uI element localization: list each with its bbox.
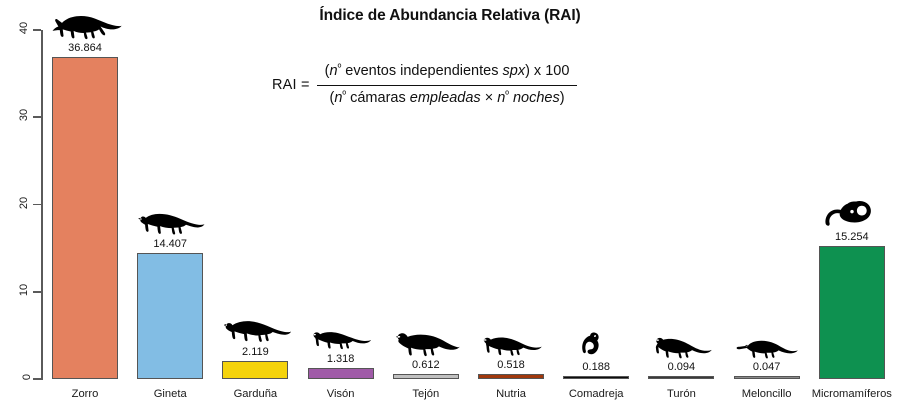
x-axis-category-label: Meloncillo xyxy=(721,388,813,400)
y-axis-line xyxy=(41,30,43,380)
beech-marten-icon xyxy=(219,315,291,345)
bar[interactable] xyxy=(734,376,800,379)
bar-value-label: 0.518 xyxy=(475,359,547,371)
y-axis-tick xyxy=(33,291,41,293)
x-axis-category-label: Turón xyxy=(635,388,727,400)
bar-value-label: 1.318 xyxy=(305,353,377,365)
badger-icon xyxy=(390,328,462,358)
bar-value-label: 14.407 xyxy=(134,238,206,250)
plot-area: 010203040 36.864Zorro14.407Gineta2.119Ga… xyxy=(0,0,900,410)
bar[interactable] xyxy=(478,374,544,379)
bar-group: 0.612Tejón xyxy=(390,0,462,410)
chart-canvas: Índice de Abundancia Relativa (RAI) RAI … xyxy=(0,0,900,410)
y-axis-tick-label: 40 xyxy=(0,22,30,34)
bar[interactable] xyxy=(393,374,459,379)
otter-icon xyxy=(475,331,547,358)
bar-group: 0.188Comadreja xyxy=(560,0,632,410)
bar-value-label: 2.119 xyxy=(219,346,291,358)
x-axis-category-label: Comadreja xyxy=(550,388,642,400)
bar-group: 0.047Meloncillo xyxy=(731,0,803,410)
bar[interactable] xyxy=(819,246,885,379)
x-axis-category-label: Visón xyxy=(295,388,387,400)
x-axis-category-label: Micromamíferos xyxy=(806,388,898,400)
bar[interactable] xyxy=(308,368,374,379)
weasel-icon xyxy=(560,327,632,360)
x-axis-category-label: Garduña xyxy=(209,388,301,400)
bar-value-label: 0.188 xyxy=(560,361,632,373)
polecat-icon xyxy=(645,333,717,360)
y-axis-tick xyxy=(33,29,41,31)
bar-group: 14.407Gineta xyxy=(134,0,206,410)
bar[interactable] xyxy=(137,253,203,379)
mink-icon xyxy=(305,325,377,352)
y-axis-tick xyxy=(33,378,41,380)
bar[interactable] xyxy=(648,376,714,379)
bar[interactable] xyxy=(222,361,288,379)
y-axis-tick xyxy=(33,116,41,118)
bar-value-label: 0.094 xyxy=(645,361,717,373)
bar-group: 1.318Visón xyxy=(305,0,377,410)
y-axis-tick-label: 10 xyxy=(0,284,30,296)
genet-icon xyxy=(134,207,206,237)
y-axis-tick-label: 20 xyxy=(0,197,30,209)
x-axis-category-label: Nutria xyxy=(465,388,557,400)
bar-group: 36.864Zorro xyxy=(49,0,121,410)
bar-group: 0.518Nutria xyxy=(475,0,547,410)
y-axis-tick-label: 0 xyxy=(0,371,30,383)
bar-value-label: 0.047 xyxy=(731,361,803,373)
bar-value-label: 15.254 xyxy=(816,231,888,243)
bar-value-label: 36.864 xyxy=(49,42,121,54)
y-axis-tick-label: 30 xyxy=(0,109,30,121)
mouse-icon xyxy=(816,194,888,230)
x-axis-category-label: Gineta xyxy=(124,388,216,400)
bar-group: 15.254Micromamíferos xyxy=(816,0,888,410)
y-axis-tick xyxy=(33,204,41,206)
bar-group: 2.119Garduña xyxy=(219,0,291,410)
mongoose-icon xyxy=(731,336,803,360)
bar-value-label: 0.612 xyxy=(390,359,462,371)
bar-group: 0.094Turón xyxy=(645,0,717,410)
x-axis-category-label: Tejón xyxy=(380,388,472,400)
bar[interactable] xyxy=(563,376,629,379)
bar[interactable] xyxy=(52,57,118,379)
x-axis-category-label: Zorro xyxy=(39,388,131,400)
fox-icon xyxy=(49,9,121,41)
